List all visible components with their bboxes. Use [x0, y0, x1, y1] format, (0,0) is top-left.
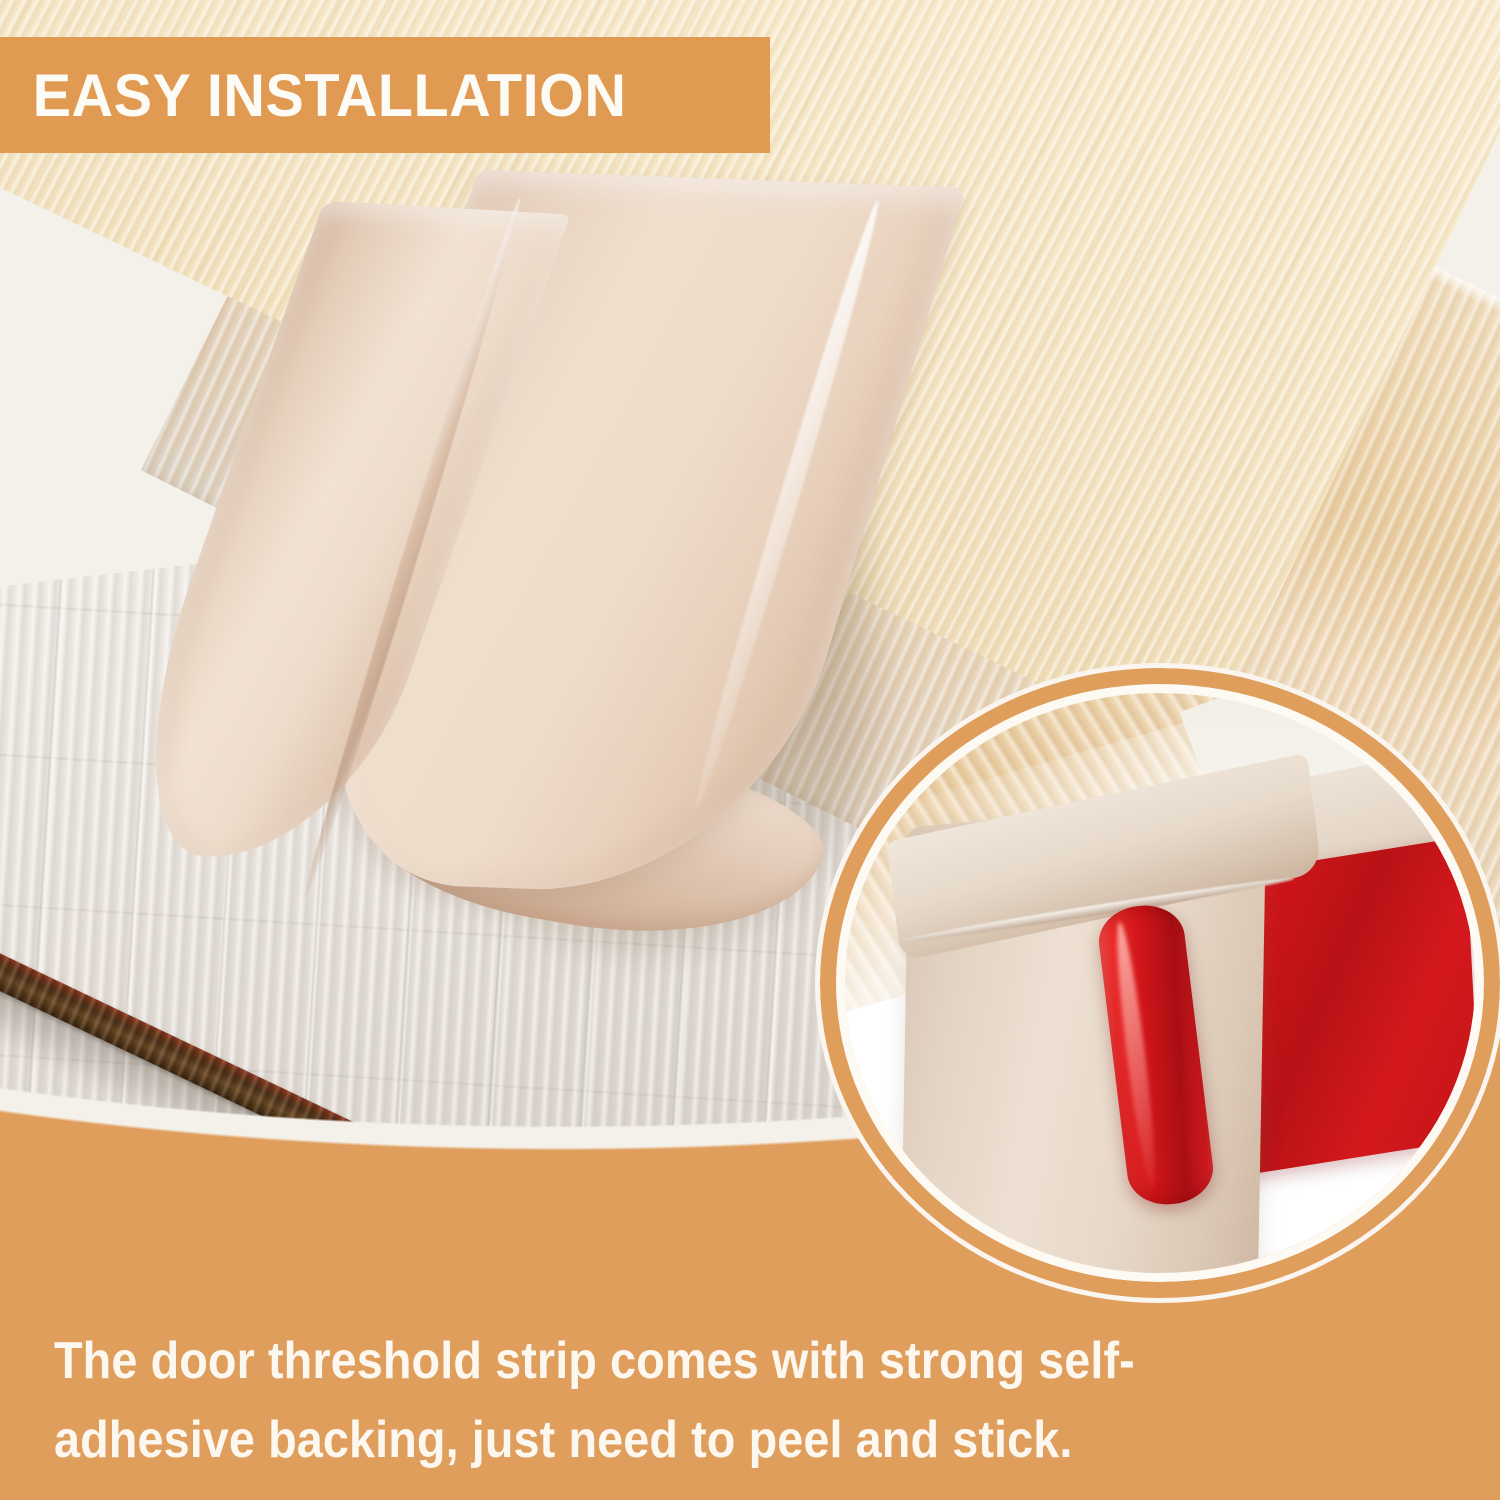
- headline-banner: EASY INSTALLATION: [0, 37, 770, 153]
- product-marketing-card: EASY INSTALLATION The door threshold str…: [0, 0, 1500, 1500]
- inset-outer-white-ring: [815, 663, 1500, 1303]
- headline-text: EASY INSTALLATION: [0, 61, 626, 130]
- feature-caption: The door threshold strip comes with stro…: [54, 1322, 1314, 1480]
- detail-inset-circle: [815, 663, 1500, 1303]
